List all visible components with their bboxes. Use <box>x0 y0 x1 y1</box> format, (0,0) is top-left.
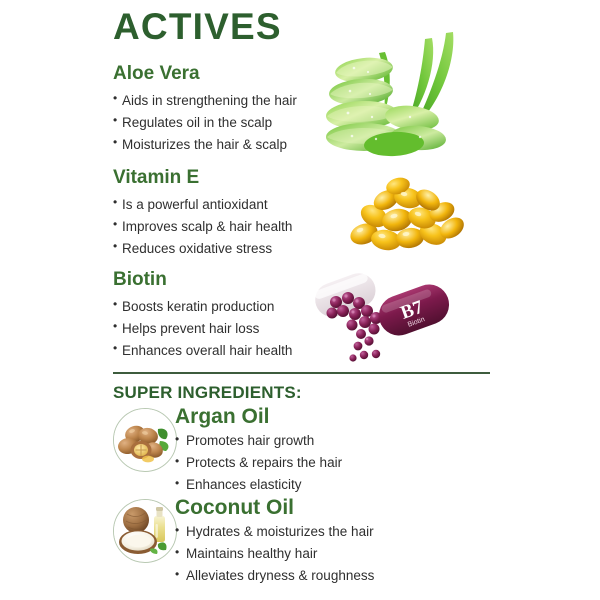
super-ingredient-body-coconut-oil: Coconut Oil Hydrates & moisturizes the h… <box>175 497 374 587</box>
list-item: Regulates oil in the scalp <box>113 112 297 134</box>
list-item: Is a powerful antioxidant <box>113 194 292 216</box>
active-section-vitamin-e: Vitamin E Is a powerful antioxidant Impr… <box>113 168 292 259</box>
list-item: Boosts keratin production <box>113 296 292 318</box>
super-ingredient-title-coconut-oil: Coconut Oil <box>175 497 374 519</box>
list-item: Reduces oxidative stress <box>113 238 292 260</box>
active-title-aloe-vera: Aloe Vera <box>113 64 297 85</box>
active-section-biotin: Biotin Boosts keratin production Helps p… <box>113 270 292 361</box>
vitamin-e-softgel-capsules-illustration <box>334 176 469 261</box>
super-ingredient-body-argan-oil: Argan Oil Promotes hair growth Protects … <box>175 406 342 496</box>
list-item: Moisturizes the hair & scalp <box>113 134 297 156</box>
list-item: Helps prevent hair loss <box>113 318 292 340</box>
super-ingredient-title-argan-oil: Argan Oil <box>175 406 342 428</box>
list-item: Maintains healthy hair <box>175 543 374 565</box>
coconut-oil-icon <box>113 499 177 563</box>
active-section-aloe-vera: Aloe Vera Aids in strengthening the hair… <box>113 64 297 155</box>
list-item: Promotes hair growth <box>175 430 342 452</box>
biotin-capsule-illustration: B7 Biotin <box>306 268 456 368</box>
argan-nuts-icon <box>113 408 177 472</box>
section-divider <box>113 372 490 374</box>
list-item: Alleviates dryness & roughness <box>175 565 374 587</box>
super-ingredient-bullets-argan-oil: Promotes hair growth Protects & repairs … <box>175 430 342 496</box>
active-title-biotin: Biotin <box>113 270 292 291</box>
active-bullets-biotin: Boosts keratin production Helps prevent … <box>113 296 292 362</box>
list-item: Improves scalp & hair health <box>113 216 292 238</box>
aloe-vera-illustration <box>306 18 491 158</box>
super-ingredients-title: SUPER INGREDIENTS: <box>113 383 302 403</box>
infographic-page: ACTIVES Aloe Vera Aids in strengthening … <box>0 0 600 600</box>
active-bullets-vitamin-e: Is a powerful antioxidant Improves scalp… <box>113 194 292 260</box>
list-item: Protects & repairs the hair <box>175 452 342 474</box>
super-ingredient-bullets-coconut-oil: Hydrates & moisturizes the hair Maintain… <box>175 521 374 587</box>
active-title-vitamin-e: Vitamin E <box>113 168 292 189</box>
list-item: Hydrates & moisturizes the hair <box>175 521 374 543</box>
list-item: Enhances elasticity <box>175 474 342 496</box>
page-title: ACTIVES <box>113 8 282 45</box>
list-item: Aids in strengthening the hair <box>113 90 297 112</box>
active-bullets-aloe-vera: Aids in strengthening the hair Regulates… <box>113 90 297 156</box>
list-item: Enhances overall hair health <box>113 340 292 362</box>
